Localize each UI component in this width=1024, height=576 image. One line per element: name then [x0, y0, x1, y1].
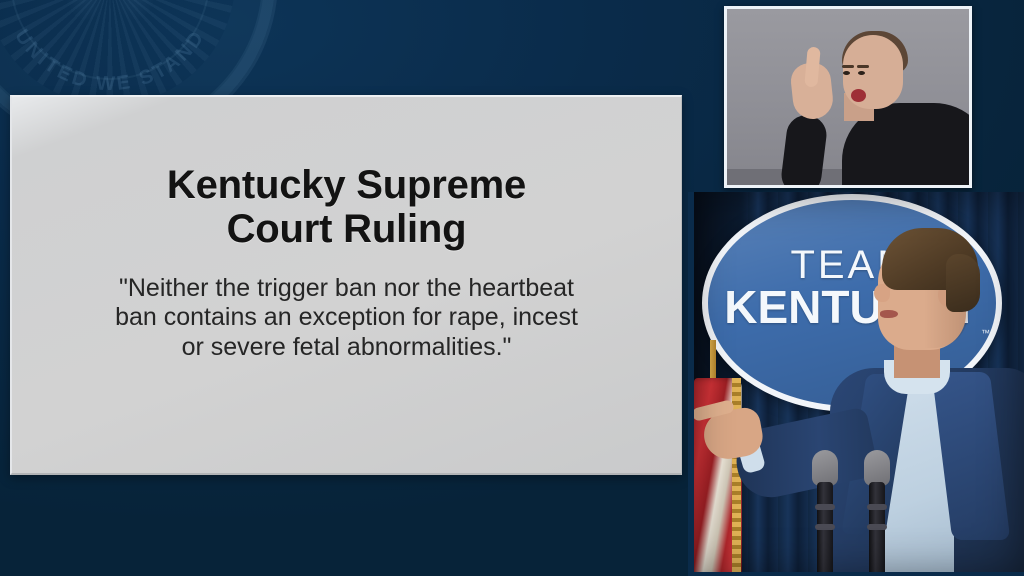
- microphone-right-band-lower: [867, 524, 887, 530]
- slide-quote-line-2: ban contains an exception for rape, ince…: [46, 303, 647, 333]
- seal-motto-text: UNITED WE STAND: [10, 25, 209, 95]
- broadcast-screen: UNITED WE STAND Kentucky Supreme Court R…: [0, 0, 1024, 576]
- slide-content: Kentucky Supreme Court Ruling "Neither t…: [12, 97, 681, 473]
- asl-interpreter-brow-right: [857, 65, 869, 68]
- feed-bottom-edge: [688, 572, 1024, 576]
- asl-interpreter-brow-left: [842, 65, 854, 68]
- slide-quote: "Neither the trigger ban nor the heartbe…: [46, 252, 647, 363]
- asl-interpreter-mouth: [851, 89, 866, 102]
- asl-interpreter-eye-left: [843, 71, 850, 75]
- microphone-left-head: [812, 450, 838, 486]
- microphone-left: [812, 450, 838, 576]
- asl-interpreter-video: [724, 6, 972, 188]
- slide-quote-line-1: "Neither the trigger ban nor the heartbe…: [46, 274, 647, 304]
- video-column: TEAM KENTUCKY ™: [688, 0, 1024, 576]
- svg-text:UNITED WE STAND: UNITED WE STAND: [10, 25, 209, 95]
- asl-interpreter-eye-right: [858, 71, 865, 75]
- press-conference-video: TEAM KENTUCKY ™: [688, 192, 1024, 576]
- trademark-symbol: ™: [981, 328, 990, 338]
- microphone-left-band-upper: [815, 504, 835, 510]
- microphone-left-band-lower: [815, 524, 835, 530]
- microphone-right-band-upper: [867, 504, 887, 510]
- slide-title: Kentucky Supreme Court Ruling: [46, 97, 647, 252]
- slide-title-line-1: Kentucky Supreme: [46, 163, 647, 207]
- microphone-right: [864, 450, 890, 576]
- slide-quote-line-3: or severe fetal abnormalities.": [46, 333, 647, 363]
- speaker-hair-side: [946, 254, 980, 312]
- microphone-right-head: [864, 450, 890, 486]
- feed-left-edge: [688, 192, 694, 576]
- slide-title-line-2: Court Ruling: [46, 207, 647, 251]
- presentation-slide: Kentucky Supreme Court Ruling "Neither t…: [10, 95, 682, 475]
- speaker-mouth: [880, 310, 898, 318]
